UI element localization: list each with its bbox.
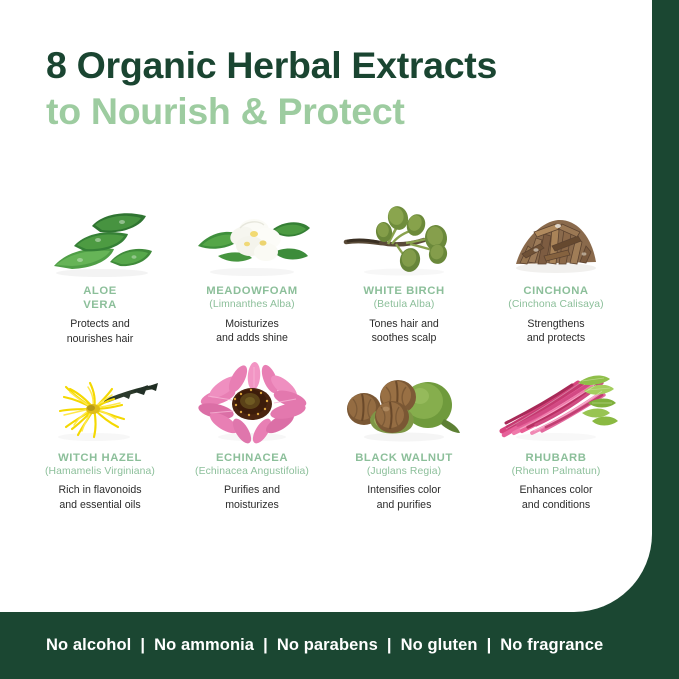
witch-hazel-flower-icon	[30, 359, 170, 445]
page-subtitle: to Nourish & Protect	[46, 90, 626, 134]
herb-desc-line2: soothes scalp	[372, 332, 437, 344]
cinchona-bark-icon	[486, 192, 626, 278]
herb-description: Tones hair and soothes scalp	[369, 317, 439, 346]
herb-latin-name: (Hamamelis Virginiana)	[45, 465, 155, 479]
aloe-vera-icon	[30, 192, 170, 278]
herb-name-line1: WITCH HAZEL	[58, 452, 142, 464]
herb-description: Enhances color and conditions	[519, 483, 592, 512]
black-walnut-icon	[334, 359, 474, 445]
poster-content: 8 Organic Herbal Extracts to Nourish & P…	[0, 0, 679, 679]
claim-no-fragrance: No fragrance	[500, 636, 603, 655]
claim-separator: |	[140, 636, 145, 655]
herb-latin-name: (Cinchona Calisaya)	[508, 298, 603, 312]
claim-no-ammonia: No ammonia	[154, 636, 254, 655]
rhubarb-stalks-icon	[486, 359, 626, 445]
herb-desc-line1: Moisturizes	[225, 318, 279, 330]
herb-desc-line1: Rich in flavonoids	[58, 484, 141, 496]
claim-separator: |	[487, 636, 492, 655]
herb-latin-name: (Limnanthes Alba)	[209, 298, 294, 312]
claim-separator: |	[263, 636, 268, 655]
herb-name-line1: RHUBARB	[526, 452, 587, 464]
page-title: 8 Organic Herbal Extracts	[46, 44, 626, 88]
herb-name-line1: BLACK WALNUT	[355, 452, 453, 464]
herb-name: RHUBARB	[526, 451, 587, 465]
herb-card-black-walnut: BLACK WALNUT (Juglans Regia) Intensifies…	[328, 359, 480, 513]
herb-description: Protects and nourishes hair	[67, 317, 134, 346]
herb-desc-line1: Protects and	[70, 318, 129, 330]
herb-latin-name: (Echinacea Angustifolia)	[195, 465, 309, 479]
herb-desc-line1: Purifies and	[224, 484, 280, 496]
herb-name: WITCH HAZEL	[58, 451, 142, 465]
herb-desc-line2: nourishes hair	[67, 333, 134, 345]
footer-claims-band: No alcohol | No ammonia | No parabens | …	[0, 612, 679, 679]
herb-name-line1: ALOE	[83, 285, 117, 297]
echinacea-flower-icon	[182, 359, 322, 445]
herb-desc-line1: Tones hair and	[369, 318, 439, 330]
herb-desc-line2: and adds shine	[216, 332, 288, 344]
herb-row-1: ALOE VERA Protects and nourishes hair	[24, 192, 632, 347]
herb-card-meadowfoam: MEADOWFOAM (Limnanthes Alba) Moisturizes…	[176, 192, 328, 347]
herb-name: CINCHONA	[523, 284, 588, 298]
claim-no-parabens: No parabens	[277, 636, 378, 655]
herb-desc-line2: and purifies	[377, 499, 432, 511]
herb-name-line1: WHITE BIRCH	[363, 285, 444, 297]
herb-name-line1: CINCHONA	[523, 285, 588, 297]
herb-row-2: WITCH HAZEL (Hamamelis Virginiana) Rich …	[24, 359, 632, 513]
herb-desc-line2: and essential oils	[59, 499, 140, 511]
footer-claims-list: No alcohol | No ammonia | No parabens | …	[46, 636, 603, 655]
claim-separator: |	[387, 636, 392, 655]
herb-description: Purifies and moisturizes	[224, 483, 280, 512]
claim-no-alcohol: No alcohol	[46, 636, 131, 655]
infographic-poster: 8 Organic Herbal Extracts to Nourish & P…	[0, 0, 679, 679]
herb-description: Moisturizes and adds shine	[216, 317, 288, 346]
meadowfoam-flower-icon	[182, 192, 322, 278]
herb-desc-line1: Strengthens	[527, 318, 584, 330]
herb-card-aloe-vera: ALOE VERA Protects and nourishes hair	[24, 192, 176, 347]
herb-description: Intensifies color and purifies	[367, 483, 441, 512]
poster-heading: 8 Organic Herbal Extracts to Nourish & P…	[46, 44, 626, 133]
herb-card-echinacea: ECHINACEA (Echinacea Angustifolia) Purif…	[176, 359, 328, 513]
herb-grid: ALOE VERA Protects and nourishes hair	[24, 192, 632, 513]
herb-description: Rich in flavonoids and essential oils	[58, 483, 141, 512]
herb-name-line1: MEADOWFOAM	[206, 285, 297, 297]
herb-card-white-birch: WHITE BIRCH (Betula Alba) Tones hair and…	[328, 192, 480, 347]
herb-desc-line1: Intensifies color	[367, 484, 441, 496]
herb-name: MEADOWFOAM	[206, 284, 297, 298]
herb-desc-line2: moisturizes	[225, 499, 279, 511]
herb-card-witch-hazel: WITCH HAZEL (Hamamelis Virginiana) Rich …	[24, 359, 176, 513]
herb-desc-line1: Enhances color	[519, 484, 592, 496]
herb-description: Strengthens and protects	[527, 317, 585, 346]
herb-latin-name: (Betula Alba)	[374, 298, 435, 312]
herb-desc-line2: and conditions	[522, 499, 590, 511]
herb-name: BLACK WALNUT	[355, 451, 453, 465]
herb-card-cinchona: CINCHONA (Cinchona Calisaya) Strengthens…	[480, 192, 632, 347]
herb-name: WHITE BIRCH	[363, 284, 444, 298]
claim-no-gluten: No gluten	[401, 636, 478, 655]
herb-latin-name: (Juglans Regia)	[367, 465, 441, 479]
herb-desc-line2: and protects	[527, 332, 585, 344]
herb-name-line1: ECHINACEA	[216, 452, 288, 464]
herb-name-line2: VERA	[83, 299, 117, 311]
herb-name: ALOE VERA	[83, 284, 117, 312]
white-birch-branch-icon	[334, 192, 474, 278]
herb-name: ECHINACEA	[216, 451, 288, 465]
herb-card-rhubarb: RHUBARB (Rheum Palmatun) Enhances color …	[480, 359, 632, 513]
herb-latin-name: (Rheum Palmatun)	[512, 465, 601, 479]
